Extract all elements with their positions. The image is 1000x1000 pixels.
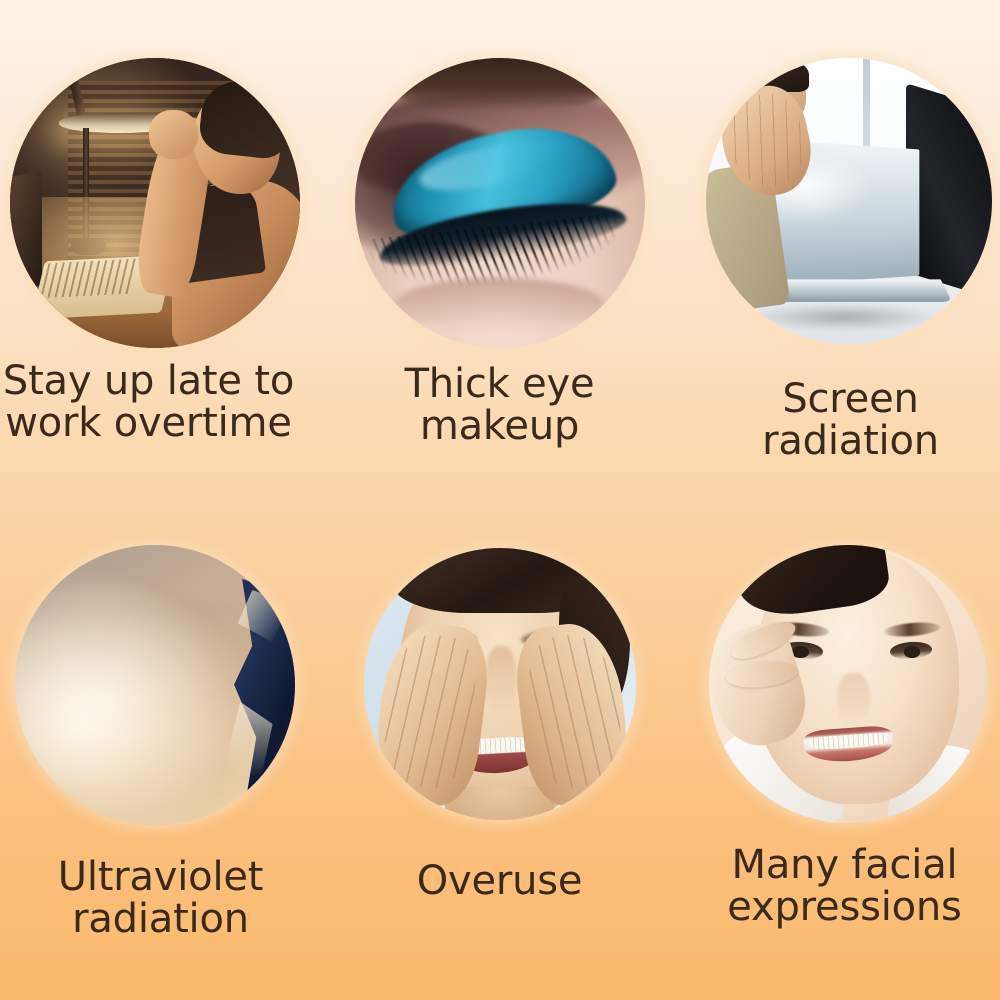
caption-thick-eye-makeup: Thick eye makeup (333, 363, 666, 448)
photo-ultraviolet-radiation-wrapper (15, 545, 295, 825)
caption-ultraviolet-radiation: Ultraviolet radiation (0, 856, 327, 941)
photo-thick-eye-makeup (355, 58, 645, 348)
photo-many-facial-expressions (709, 545, 987, 823)
photo-thick-eye-makeup-wrapper (355, 58, 645, 348)
caption-screen-radiation: Screen radiation (684, 378, 1000, 463)
caption-stay-up-late: Stay up late to work overtime (0, 360, 315, 445)
photo-stay-up-late-wrapper (10, 58, 300, 348)
grid-cell-overuse: Overuse (333, 500, 666, 1000)
photo-overuse-wrapper (364, 548, 636, 820)
caption-overuse: Overuse (333, 860, 666, 902)
grid-cell-stay-up-late: Stay up late to work overtime (0, 0, 333, 500)
photo-screen-radiation-wrapper (706, 58, 992, 344)
grid-cell-thick-eye-makeup: Thick eye makeup (333, 0, 666, 500)
photo-stay-up-late (10, 58, 300, 348)
grid-cell-ultraviolet-radiation: Ultraviolet radiation (0, 500, 333, 1000)
infographic-poster: Stay up late to work overtime Thick eye … (0, 0, 1000, 1000)
photo-screen-radiation (706, 58, 992, 344)
photo-overuse (364, 548, 636, 820)
grid-cell-screen-radiation: Screen radiation (666, 0, 999, 500)
photo-many-facial-expressions-wrapper (709, 545, 987, 823)
photo-ultraviolet-radiation (15, 545, 295, 825)
grid-cell-many-facial-expressions: Many facial expressions (666, 500, 999, 1000)
caption-many-facial-expressions: Many facial expressions (678, 844, 1000, 929)
